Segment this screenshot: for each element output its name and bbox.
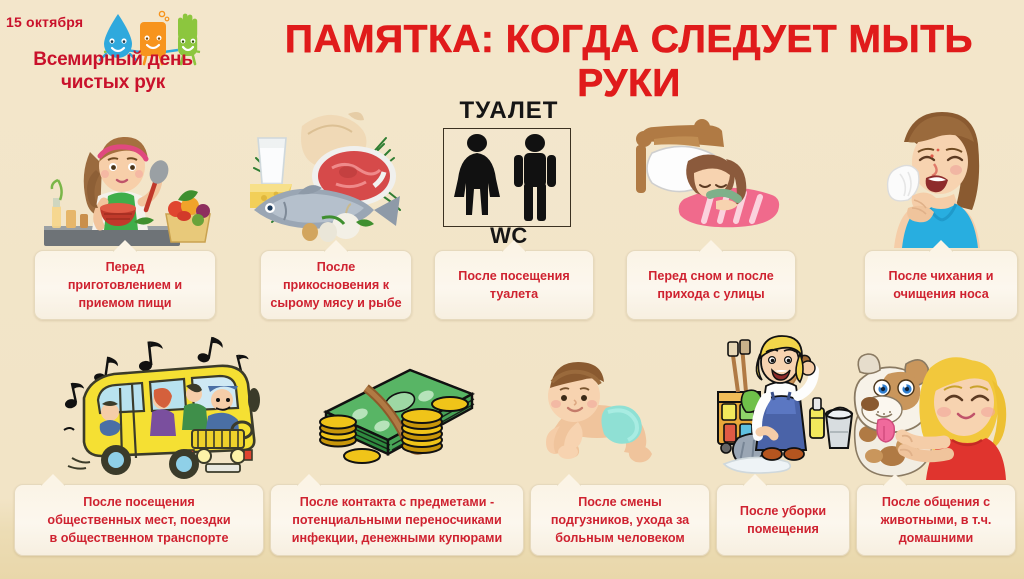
- callout-after-using-toilet[interactable]: После посещения туалета: [434, 250, 594, 320]
- toilet-label-top: ТУАЛЕТ: [432, 97, 586, 125]
- callout-text: После общения с животными, в т.ч. домашн…: [881, 493, 992, 547]
- man-pictogram-icon: [514, 134, 556, 221]
- woman-cooking-illustration: [38, 110, 218, 255]
- money-stack-illustration: [304, 360, 486, 478]
- logo-title-line2: чистых рук: [0, 71, 226, 94]
- callout-before-sleep-and-after-coming-home[interactable]: Перед сном и после прихода с улицы: [626, 250, 796, 320]
- callout-text: Перед сном и после прихода с улицы: [648, 267, 773, 303]
- coin-stack-left: [320, 416, 356, 447]
- page-title: ПАМЯТКА: КОГДА СЛЕДУЕТ МЫТЬ РУКИ: [238, 18, 1020, 106]
- callout-text: После прикосновения к сырому мясу и рыбе: [270, 258, 401, 312]
- callout-after-contact-with-animals[interactable]: После общения с животными, в т.ч. домашн…: [856, 484, 1016, 556]
- callout-text: После чихания и очищения носа: [889, 267, 994, 303]
- callout-text: После контакта с предметами - потенциаль…: [292, 493, 502, 547]
- woman-pictogram-icon: [454, 134, 500, 215]
- toilet-sign-illustration: ТУАЛЕТ WC: [432, 97, 586, 245]
- sneezing-woman-illustration: [868, 108, 1018, 248]
- callout-text: После посещения общественных мест, поезд…: [47, 493, 230, 547]
- girl-hugging-dog-illustration: [852, 350, 1018, 480]
- callout-after-changing-diapers-and-caring-for-sick[interactable]: После смены подгузников, ухода за больны…: [530, 484, 710, 556]
- callout-after-touching-raw-meat-and-fish[interactable]: После прикосновения к сырому мясу и рыбе: [260, 250, 412, 320]
- callout-before-cooking-and-eating[interactable]: Перед приготовлением и приемом пищи: [34, 250, 216, 320]
- logo-title-line1: Всемирный день: [33, 49, 193, 70]
- logo-title: Всемирный день чистых рук: [0, 48, 226, 94]
- coin-stack-right: [402, 409, 442, 453]
- callout-after-contact-with-infection-carriers-and-money[interactable]: После контакта с предметами - потенциаль…: [270, 484, 524, 556]
- callout-text: После смены подгузников, ухода за больны…: [551, 493, 689, 547]
- callout-text: Перед приготовлением и приемом пищи: [68, 258, 182, 312]
- poster-canvas: 15 октября: [0, 0, 1024, 579]
- cleaning-lady-illustration: [702, 336, 854, 480]
- callout-after-public-places-and-transport[interactable]: После посещения общественных мест, поезд…: [14, 484, 264, 556]
- callout-text: После посещения туалета: [458, 267, 569, 303]
- crawling-baby-illustration: [534, 356, 676, 476]
- callout-after-cleaning-premises[interactable]: После уборки помещения: [716, 484, 850, 556]
- callout-after-sneezing-and-nose-cleaning[interactable]: После чихания и очищения носа: [864, 250, 1018, 320]
- sleeping-child-illustration: [624, 115, 800, 245]
- yellow-bus-illustration: [58, 338, 304, 478]
- toilet-sign-frame: [443, 128, 571, 227]
- logo-date: 15 октября: [6, 14, 83, 30]
- callout-text: После уборки помещения: [740, 502, 826, 538]
- raw-meat-and-fish-illustration: [236, 98, 418, 248]
- world-handwashing-day-logo: 15 октября: [0, 0, 232, 100]
